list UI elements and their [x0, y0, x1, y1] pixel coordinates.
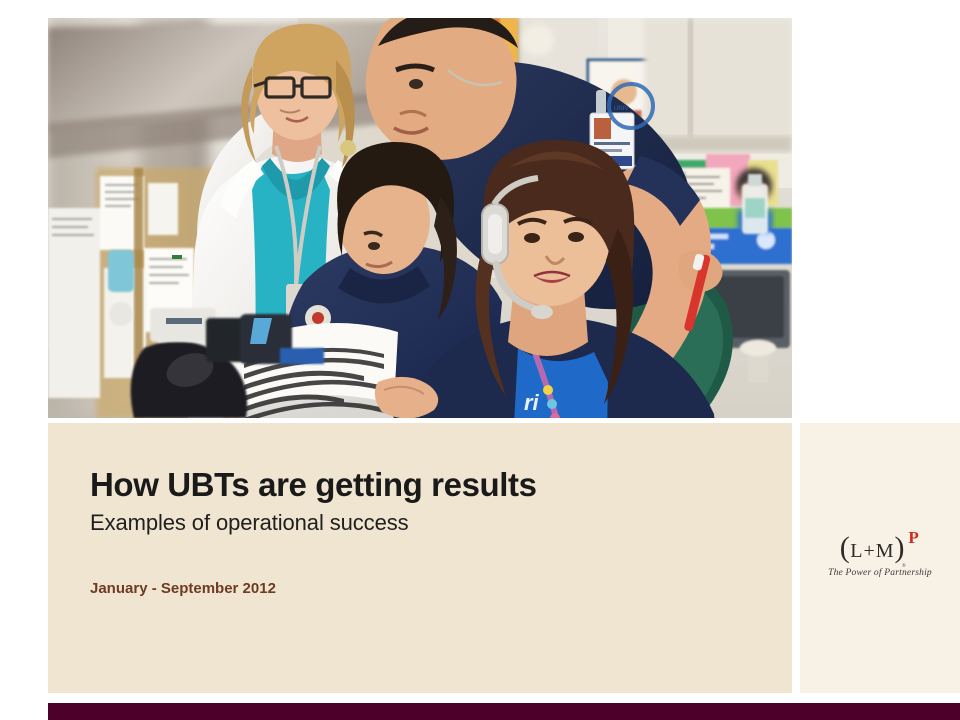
photo-bg-cabinet	[644, 18, 792, 152]
svg-text:UNIV: UNIV	[614, 106, 628, 112]
logo-wordmark: (L+M)®P	[800, 533, 960, 565]
logo-close-paren: )	[895, 531, 906, 564]
date-range-label: January - September 2012	[90, 580, 276, 597]
page-subtitle: Examples of operational success	[90, 510, 409, 536]
bottom-accent-bar	[48, 703, 960, 720]
brand-logo: (L+M)®P The Power of Partnership	[800, 533, 960, 579]
registered-mark-icon: ®	[902, 564, 906, 569]
svg-text:ri: ri	[524, 390, 540, 415]
logo-panel: (L+M)®P The Power of Partnership	[800, 423, 960, 693]
logo-superscript-p: P	[908, 528, 919, 547]
page-title: How UBTs are getting results	[90, 466, 537, 504]
logo-letters: L+M	[850, 540, 894, 562]
logo-tagline: The Power of Partnership	[800, 569, 960, 579]
logo-open-paren: (	[840, 531, 851, 564]
title-panel: How UBTs are getting results Examples of…	[48, 423, 792, 693]
hero-photo: OUT T UT	[48, 18, 792, 418]
presentation-slide: OUT T UT	[0, 0, 960, 720]
hero-photo-illustration: OUT T UT	[48, 18, 792, 418]
